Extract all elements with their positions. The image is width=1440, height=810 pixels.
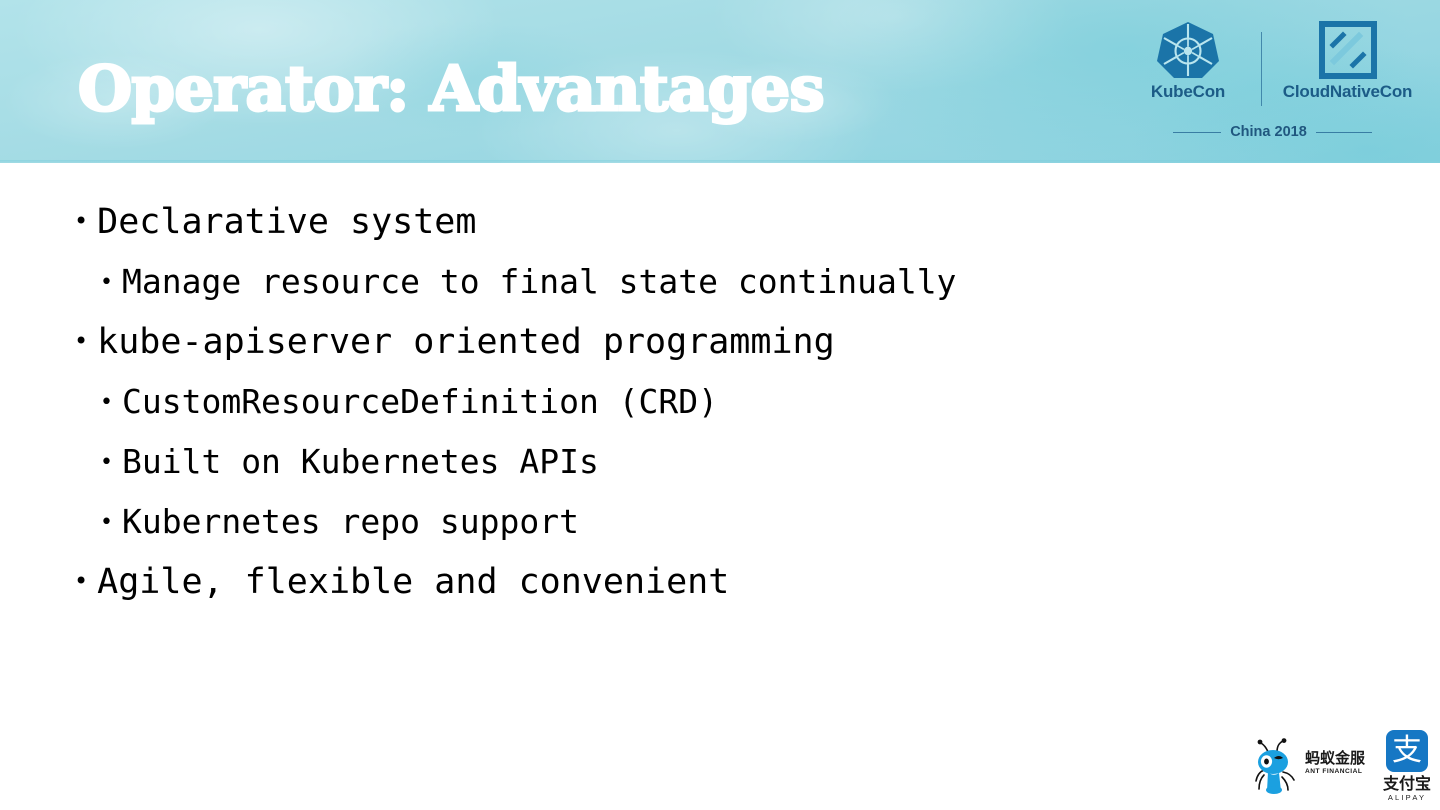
bullet-dot-icon: •	[100, 392, 113, 414]
list-item: • Agile, flexible and convenient	[0, 552, 1360, 612]
band-bottom-edge	[0, 160, 1440, 163]
alipay-name-en: ALIPAY	[1378, 793, 1436, 803]
ant-mascot-icon	[1255, 738, 1303, 794]
list-item: • kube-apiserver oriented programming	[0, 312, 1360, 372]
list-item: • Declarative system	[0, 192, 1360, 252]
list-item-text: Kubernetes repo support	[122, 492, 579, 552]
list-item: • Built on Kubernetes APIs	[0, 432, 1360, 492]
bullet-dot-icon: •	[74, 329, 88, 353]
bullet-dot-icon: •	[100, 452, 113, 474]
bullet-dot-icon: •	[74, 209, 88, 233]
ant-financial-name-cn: 蚂蚁金服	[1305, 750, 1371, 766]
cloudnativecon-brand: CloudNativeCon	[1270, 18, 1425, 102]
lockup-vertical-divider	[1261, 32, 1262, 106]
list-item-text: kube-apiserver oriented programming	[97, 312, 835, 372]
kubecon-label: KubeCon	[1128, 82, 1248, 102]
alipay-badge-icon: 支	[1386, 730, 1428, 772]
lockup-event-footer: China 2018	[1120, 124, 1425, 140]
kubecon-brand: KubeCon	[1128, 18, 1248, 102]
footer-rule-right	[1316, 132, 1372, 133]
cloudnativecon-label: CloudNativeCon	[1270, 82, 1425, 102]
alipay-logo: 支 支付宝 ALIPAY	[1378, 730, 1436, 806]
list-item: • Kubernetes repo support	[0, 492, 1360, 552]
ant-financial-wordmark: 蚂蚁金服 ANT FINANCIAL	[1305, 750, 1371, 776]
list-item: • Manage resource to final state continu…	[0, 252, 1360, 312]
kubecon-cloudnativecon-logo-lockup: KubeCon CloudNative	[1120, 18, 1425, 153]
list-item-text: Manage resource to final state continual…	[122, 252, 956, 312]
event-location-year: China 2018	[1230, 124, 1307, 140]
list-item-text: CustomResourceDefinition (CRD)	[122, 372, 718, 432]
alipay-name-cn: 支付宝	[1378, 775, 1436, 793]
list-item: • CustomResourceDefinition (CRD)	[0, 372, 1360, 432]
sponsor-logos: 蚂蚁金服 ANT FINANCIAL 支 支付宝 ALIPAY	[1255, 730, 1440, 808]
alipay-badge-glyph: 支	[1392, 736, 1422, 766]
ant-financial-logo: 蚂蚁金服 ANT FINANCIAL	[1255, 738, 1370, 796]
kubernetes-helm-icon	[1128, 18, 1248, 82]
bullet-dot-icon: •	[100, 512, 113, 534]
list-item-text: Built on Kubernetes APIs	[122, 432, 599, 492]
cncf-square-icon	[1270, 18, 1425, 82]
presentation-slide: Operator: Advantages	[0, 0, 1440, 810]
page-title: Operator: Advantages	[78, 58, 824, 120]
footer-rule-left	[1173, 132, 1221, 133]
bullet-dot-icon: •	[100, 272, 113, 294]
slide-bullet-list: • Declarative system • Manage resource t…	[0, 192, 1360, 612]
list-item-text: Declarative system	[97, 192, 476, 252]
list-item-text: Agile, flexible and convenient	[97, 552, 729, 612]
lockup-brands-row: KubeCon CloudNative	[1120, 18, 1425, 123]
bullet-dot-icon: •	[74, 569, 88, 593]
ant-financial-name-en: ANT FINANCIAL	[1305, 767, 1371, 776]
